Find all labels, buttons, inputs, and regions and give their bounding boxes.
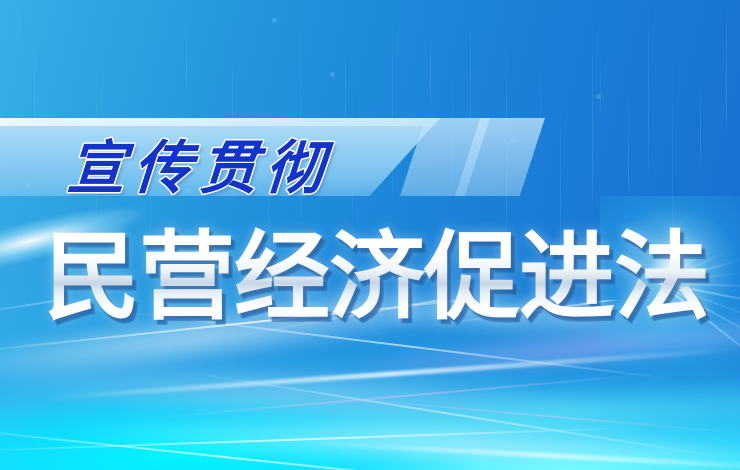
- subtitle-text: 宣传贯彻: [65, 121, 335, 205]
- promo-poster: 宣传贯彻 民营经济促进法 民营经济促进法: [0, 0, 740, 470]
- main-title-text: 民营经济促进法: [44, 224, 709, 330]
